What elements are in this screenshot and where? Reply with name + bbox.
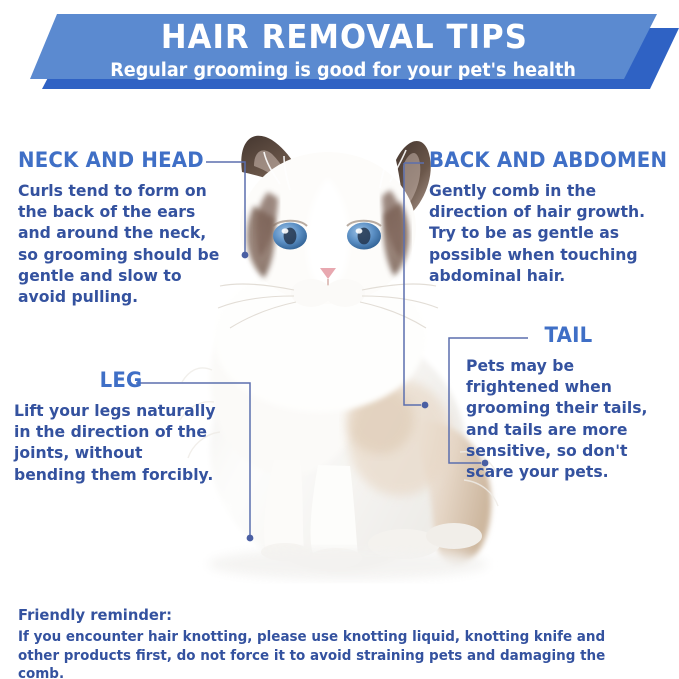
footer-title: Friendly reminder: [18, 607, 631, 625]
footer-body: If you encounter hair knotting, please u… [18, 628, 631, 679]
callout-body-neck-and-head: Curls tend to form on the back of the ea… [18, 180, 224, 307]
infographic-page: HAIR REMOVAL TIPS Regular grooming is go… [0, 0, 679, 679]
callout-body-leg: Lift your legs naturally in the directio… [14, 400, 219, 485]
callout-heading-tail: TAIL [472, 325, 665, 346]
callout-back-and-abdomen: BACK AND ABDOMEN Gently comb in the dire… [429, 150, 669, 286]
banner-text-group: HAIR REMOVAL TIPS Regular grooming is go… [0, 0, 679, 100]
callout-heading-leg: LEG [20, 370, 221, 391]
callout-heading-neck-and-head: NECK AND HEAD [18, 150, 220, 171]
callout-leg: LEG Lift your legs naturally in the dire… [14, 370, 228, 485]
callout-body-back-and-abdomen: Gently comb in the direction of hair gro… [429, 180, 659, 286]
page-subtitle: Regular grooming is good for your pet's … [111, 62, 577, 81]
page-title: HAIR REMOVAL TIPS [161, 20, 528, 53]
callout-heading-back-and-abdomen: BACK AND ABDOMEN [429, 150, 655, 171]
callout-neck-and-head: NECK AND HEAD Curls tend to form on the … [18, 150, 233, 307]
footer-reminder: Friendly reminder: If you encounter hair… [18, 607, 663, 679]
callout-body-tail: Pets may be frightened when grooming the… [466, 355, 663, 482]
callout-tail: TAIL Pets may be frightened when groomin… [466, 325, 671, 482]
header-banner: HAIR REMOVAL TIPS Regular grooming is go… [0, 0, 679, 100]
